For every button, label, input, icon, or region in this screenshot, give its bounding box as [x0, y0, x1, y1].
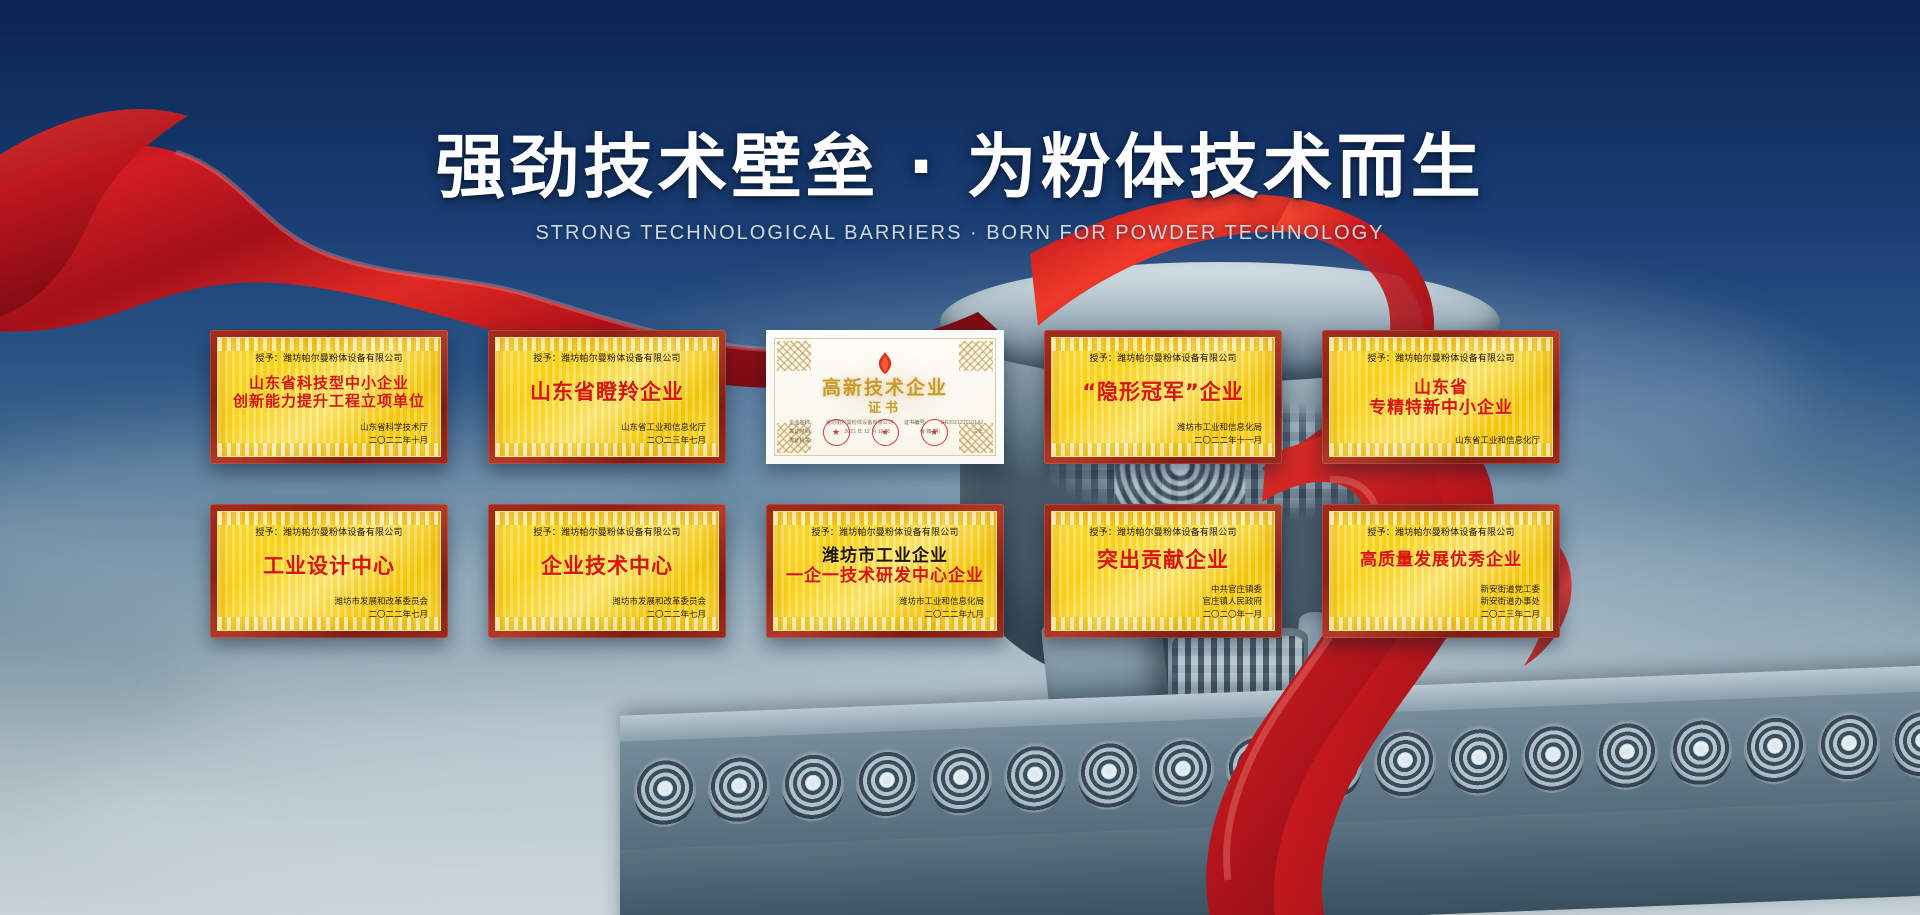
award-line: 企业技术中心 — [541, 555, 673, 579]
plaque-face: 授予：潍坊帕尔曼粉体设备有限公司 山东省 专精特新中小企业 山东省工业和信息化厅 — [1329, 337, 1553, 457]
issuer-line: 官庄镇人民政府 — [1064, 595, 1262, 607]
plaque-awardee: 授予：潍坊帕尔曼粉体设备有限公司 — [230, 351, 428, 364]
plaque-awardee: 授予：潍坊帕尔曼粉体设备有限公司 — [1342, 351, 1540, 364]
page-subtitle: STRONG TECHNOLOGICAL BARRIERS · BORN FOR… — [0, 222, 1920, 245]
plaque-title: 企业技术中心 — [508, 538, 706, 595]
award-line: 创新能力提升工程立项单位 — [233, 393, 425, 410]
award-plaque[interactable]: 授予：潍坊帕尔曼粉体设备有限公司 潍坊市工业企业 一企一技术研发中心企业 潍坊市… — [766, 504, 1004, 638]
high-tech-certificate[interactable]: 高新技术企业 证书 企业名称： 潍坊帕尔曼粉体设备有限公司 证书编号： GR20… — [766, 330, 1004, 464]
plaque-title: 山东省瞪羚企业 — [508, 364, 706, 421]
certificate-grid: 授予：潍坊帕尔曼粉体设备有限公司 山东省科技型中小企业 创新能力提升工程立项单位… — [210, 330, 1710, 678]
plaque-issuer: 新安街道党工委 新安街道办事处 二〇二三年二月 — [1342, 583, 1540, 620]
award-plaque[interactable]: 授予：潍坊帕尔曼粉体设备有限公司 山东省科技型中小企业 创新能力提升工程立项单位… — [210, 330, 448, 464]
issuer-line: 二〇二三年二月 — [1342, 608, 1540, 620]
award-plaque[interactable]: 授予：潍坊帕尔曼粉体设备有限公司 企业技术中心 潍坊市发展和改革委员会 二〇二二… — [488, 504, 726, 638]
frieze-disc-icon — [1226, 733, 1288, 805]
plaque-face: 授予：潍坊帕尔曼粉体设备有限公司 工业设计中心 潍坊市发展和改革委员会 二〇二二… — [217, 511, 441, 631]
award-line: 一企一技术研发中心企业 — [786, 567, 984, 586]
plaque-issuer: 潍坊市工业和信息化局 二〇二二年十一月 — [1064, 421, 1262, 446]
plaque-face: 授予：潍坊帕尔曼粉体设备有限公司 山东省瞪羚企业 山东省工业和信息化厅 二〇二三… — [495, 337, 719, 457]
plaque-issuer: 山东省工业和信息化厅 — [1342, 434, 1540, 446]
issuer-line: 新安街道办事处 — [1342, 595, 1540, 607]
plaque-issuer: 中共官庄镇委 官庄镇人民政府 二〇二〇年一月 — [1064, 583, 1262, 620]
certificate-title: 高新技术企业 — [775, 373, 995, 400]
certificate-seals — [775, 419, 995, 446]
issuer-line: 二〇二三年七月 — [508, 434, 706, 446]
award-line: “隐形冠军”企业 — [1082, 381, 1244, 405]
certificate-row: 授予：潍坊帕尔曼粉体设备有限公司 工业设计中心 潍坊市发展和改革委员会 二〇二二… — [210, 504, 1710, 638]
plaque-issuer: 山东省工业和信息化厅 二〇二三年七月 — [508, 421, 706, 446]
frieze-disc-icon — [634, 756, 696, 828]
award-line: 专精特新中小企业 — [1369, 399, 1513, 418]
award-line: 突出贡献企业 — [1097, 549, 1229, 573]
issuer-line: 潍坊市工业和信息化局 — [786, 595, 984, 607]
plaque-awardee: 授予：潍坊帕尔曼粉体设备有限公司 — [786, 525, 984, 538]
frieze-disc-icon — [1374, 727, 1436, 799]
frieze-disc-icon — [930, 744, 992, 816]
frieze-disc-icon — [1078, 739, 1140, 811]
plaque-face: 授予：潍坊帕尔曼粉体设备有限公司 高质量发展优秀企业 新安街道党工委 新安街道办… — [1329, 511, 1553, 631]
plaque-issuer: 山东省科学技术厅 二〇二二年十月 — [230, 421, 428, 446]
certificate-row: 授予：潍坊帕尔曼粉体设备有限公司 山东省科技型中小企业 创新能力提升工程立项单位… — [210, 330, 1710, 464]
award-line: 潍坊市工业企业 — [822, 547, 948, 566]
frieze-disc-icon — [1522, 722, 1584, 794]
issuer-line: 二〇二〇年一月 — [1064, 608, 1262, 620]
award-plaque[interactable]: 授予：潍坊帕尔曼粉体设备有限公司 “隐形冠军”企业 潍坊市工业和信息化局 二〇二… — [1044, 330, 1282, 464]
official-seal-icon — [921, 419, 948, 446]
issuer-line: 潍坊市工业和信息化局 — [1064, 421, 1262, 433]
plaque-title: 山东省科技型中小企业 创新能力提升工程立项单位 — [230, 364, 428, 421]
plaque-awardee: 授予：潍坊帕尔曼粉体设备有限公司 — [508, 525, 706, 538]
frieze-disc-icon — [1892, 707, 1920, 779]
frieze-disc-icon — [1300, 730, 1362, 802]
plaque-awardee: 授予：潍坊帕尔曼粉体设备有限公司 — [1342, 525, 1540, 538]
plaque-awardee: 授予：潍坊帕尔曼粉体设备有限公司 — [1064, 351, 1262, 364]
official-seal-icon — [823, 419, 850, 446]
award-plaque[interactable]: 授予：潍坊帕尔曼粉体设备有限公司 山东省瞪羚企业 山东省工业和信息化厅 二〇二三… — [488, 330, 726, 464]
plaque-title: 突出贡献企业 — [1064, 538, 1262, 583]
plaque-face: 授予：潍坊帕尔曼粉体设备有限公司 潍坊市工业企业 一企一技术研发中心企业 潍坊市… — [773, 511, 997, 631]
plaque-title: 高质量发展优秀企业 — [1342, 538, 1540, 583]
award-line: 山东省瞪羚企业 — [530, 381, 684, 405]
issuer-line: 潍坊市发展和改革委员会 — [230, 595, 428, 607]
certificate-face: 高新技术企业 证书 企业名称： 潍坊帕尔曼粉体设备有限公司 证书编号： GR20… — [774, 338, 996, 456]
plaque-awardee: 授予：潍坊帕尔曼粉体设备有限公司 — [508, 351, 706, 364]
plaque-issuer: 潍坊市工业和信息化局 二〇二二年九月 — [786, 595, 984, 620]
frieze-disc-icon — [1818, 710, 1880, 782]
banner-heading: 强劲技术壁垒 · 为粉体技术而生 STRONG TECHNOLOGICAL BA… — [0, 128, 1920, 245]
issuer-line: 二〇二二年十月 — [230, 434, 428, 446]
award-plaque[interactable]: 授予：潍坊帕尔曼粉体设备有限公司 突出贡献企业 中共官庄镇委 官庄镇人民政府 二… — [1044, 504, 1282, 638]
official-seal-icon — [872, 419, 899, 446]
plaque-awardee: 授予：潍坊帕尔曼粉体设备有限公司 — [230, 525, 428, 538]
frieze-disc-icon — [1744, 713, 1806, 785]
award-plaque[interactable]: 授予：潍坊帕尔曼粉体设备有限公司 山东省 专精特新中小企业 山东省工业和信息化厅 — [1322, 330, 1560, 464]
award-plaque[interactable]: 授予：潍坊帕尔曼粉体设备有限公司 高质量发展优秀企业 新安街道党工委 新安街道办… — [1322, 504, 1560, 638]
award-line: 山东省 — [1414, 379, 1468, 398]
plaque-face: 授予：潍坊帕尔曼粉体设备有限公司 “隐形冠军”企业 潍坊市工业和信息化局 二〇二… — [1051, 337, 1275, 457]
corner-ornament-icon — [959, 341, 993, 371]
issuer-line: 二〇二二年九月 — [786, 608, 984, 620]
certificate-subtitle: 证书 — [775, 397, 995, 416]
plaque-title: 潍坊市工业企业 一企一技术研发中心企业 — [786, 538, 984, 595]
frieze-disc-icon — [1670, 716, 1732, 788]
frieze-disc-icon — [1596, 719, 1658, 791]
frieze-disc-icon — [782, 750, 844, 822]
award-line: 工业设计中心 — [263, 555, 395, 579]
issuer-line: 中共官庄镇委 — [1064, 583, 1262, 595]
frieze-disc-icon — [1448, 725, 1510, 797]
plaque-face: 授予：潍坊帕尔曼粉体设备有限公司 突出贡献企业 中共官庄镇委 官庄镇人民政府 二… — [1051, 511, 1275, 631]
plaque-issuer: 潍坊市发展和改革委员会 二〇二二年七月 — [230, 595, 428, 620]
award-plaque[interactable]: 授予：潍坊帕尔曼粉体设备有限公司 工业设计中心 潍坊市发展和改革委员会 二〇二二… — [210, 504, 448, 638]
banner-stage: 强劲技术壁垒 · 为粉体技术而生 STRONG TECHNOLOGICAL BA… — [0, 0, 1920, 915]
issuer-line: 二〇二二年七月 — [508, 608, 706, 620]
frieze-disc-icon — [1152, 736, 1214, 808]
issuer-line: 潍坊市发展和改革委员会 — [508, 595, 706, 607]
issuer-line: 二〇二二年七月 — [230, 608, 428, 620]
issuer-line: 新安街道党工委 — [1342, 583, 1540, 595]
plaque-face: 授予：潍坊帕尔曼粉体设备有限公司 企业技术中心 潍坊市发展和改革委员会 二〇二二… — [495, 511, 719, 631]
plaque-issuer: 潍坊市发展和改革委员会 二〇二二年七月 — [508, 595, 706, 620]
frieze-disc-icon — [856, 747, 918, 819]
issuer-line: 山东省科学技术厅 — [230, 421, 428, 433]
plaque-title: 工业设计中心 — [230, 538, 428, 595]
issuer-line: 山东省工业和信息化厅 — [1342, 434, 1540, 446]
plaque-title: “隐形冠军”企业 — [1064, 364, 1262, 421]
page-title: 强劲技术壁垒 · 为粉体技术而生 — [0, 128, 1920, 206]
award-line: 高质量发展优秀企业 — [1360, 551, 1522, 570]
issuer-line: 山东省工业和信息化厅 — [508, 421, 706, 433]
award-line: 山东省科技型中小企业 — [249, 375, 409, 392]
plaque-face: 授予：潍坊帕尔曼粉体设备有限公司 山东省科技型中小企业 创新能力提升工程立项单位… — [217, 337, 441, 457]
plaque-title: 山东省 专精特新中小企业 — [1342, 364, 1540, 434]
frieze-disc-icon — [1004, 742, 1066, 814]
frieze-disc-icon — [708, 753, 770, 825]
issuer-line: 二〇二二年十一月 — [1064, 434, 1262, 446]
flame-emblem-icon — [875, 352, 895, 374]
corner-ornament-icon — [777, 341, 811, 371]
plaque-awardee: 授予：潍坊帕尔曼粉体设备有限公司 — [1064, 525, 1262, 538]
